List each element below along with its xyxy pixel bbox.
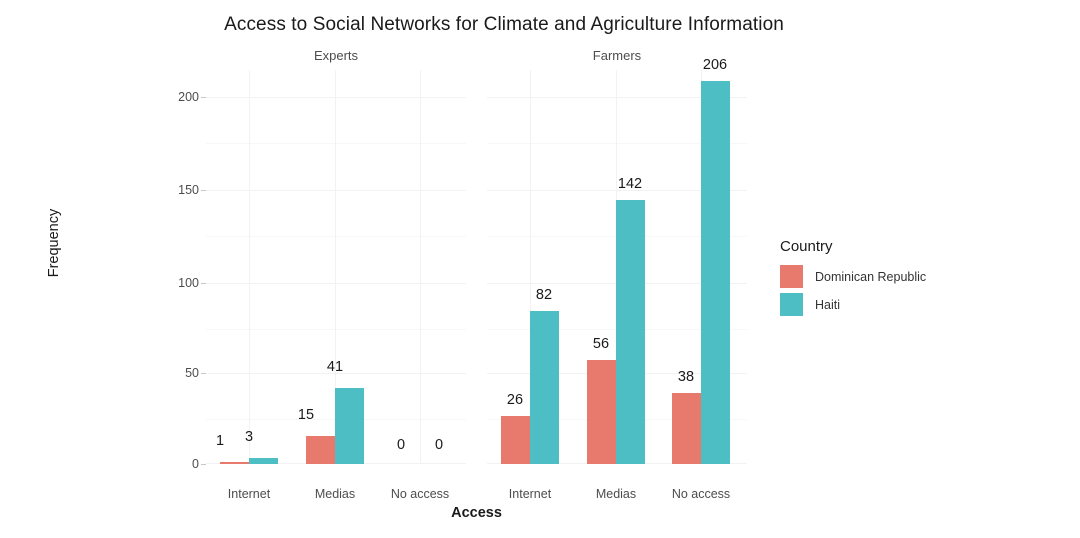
value-label-farmers-noaccess-dr: 38 — [656, 369, 716, 385]
gridline-200 — [206, 97, 466, 98]
value-label-farmers-noaccess-haiti: 206 — [685, 57, 745, 73]
legend-key-dominican-republic — [780, 265, 803, 288]
bar-farmers-medias-dominican-republic[interactable] — [587, 360, 616, 464]
legend-label-dominican-republic: Dominican Republic — [815, 270, 926, 284]
legend-item-dominican-republic[interactable]: Dominican Republic — [780, 265, 926, 288]
value-label-experts-medias-dr: 15 — [276, 407, 336, 423]
gridline-no-access — [420, 70, 421, 464]
gridline-125 — [206, 236, 466, 237]
value-label-experts-noaccess-haiti: 0 — [409, 437, 469, 453]
y-tick-mark-0 — [201, 464, 206, 465]
x-tick-experts-no-access: No access — [370, 487, 470, 501]
y-tick-150: 150 — [155, 183, 199, 197]
y-tick-50: 50 — [155, 366, 199, 380]
y-tick-100: 100 — [155, 276, 199, 290]
legend-key-haiti — [780, 293, 803, 316]
x-tick-farmers-internet: Internet — [480, 487, 580, 501]
bar-experts-internet-haiti[interactable] — [249, 458, 278, 464]
bar-farmers-internet-haiti[interactable] — [530, 311, 559, 464]
gridline-150 — [206, 190, 466, 191]
legend-label-haiti: Haiti — [815, 298, 840, 312]
bar-farmers-internet-dominican-republic[interactable] — [501, 416, 530, 464]
y-tick-200: 200 — [155, 90, 199, 104]
bar-experts-medias-haiti[interactable] — [335, 388, 364, 464]
bar-farmers-noaccess-dominican-republic[interactable] — [672, 393, 701, 464]
bar-experts-medias-dominican-republic[interactable] — [306, 436, 335, 464]
chart-plot-area: Experts Farmers 200 150 100 50 0 Frequen… — [0, 0, 1080, 538]
gridline-internet — [249, 70, 250, 464]
value-label-farmers-internet-haiti: 82 — [514, 287, 574, 303]
value-label-farmers-medias-haiti: 142 — [600, 176, 660, 192]
value-label-experts-internet-haiti: 3 — [219, 429, 279, 445]
y-axis-title: Frequency — [46, 173, 62, 313]
bar-farmers-medias-haiti[interactable] — [616, 200, 645, 464]
gridline-75 — [206, 329, 466, 330]
value-label-farmers-internet-dr: 26 — [485, 392, 545, 408]
legend-item-haiti[interactable]: Haiti — [780, 293, 926, 316]
bar-experts-internet-dominican-republic[interactable] — [220, 462, 249, 464]
y-tick-0: 0 — [155, 457, 199, 471]
legend: Country Dominican Republic Haiti — [780, 238, 926, 321]
value-label-farmers-medias-dr: 56 — [571, 336, 631, 352]
value-label-experts-medias-haiti: 41 — [305, 359, 365, 375]
x-axis-title: Access — [206, 505, 747, 521]
gridline-100 — [206, 283, 466, 284]
facet-strip-experts: Experts — [206, 48, 466, 63]
x-tick-farmers-no-access: No access — [651, 487, 751, 501]
bar-farmers-noaccess-haiti[interactable] — [701, 81, 730, 464]
legend-title: Country — [780, 238, 926, 255]
panel-experts — [206, 70, 466, 464]
x-tick-experts-internet: Internet — [199, 487, 299, 501]
gridline-175 — [206, 143, 466, 144]
